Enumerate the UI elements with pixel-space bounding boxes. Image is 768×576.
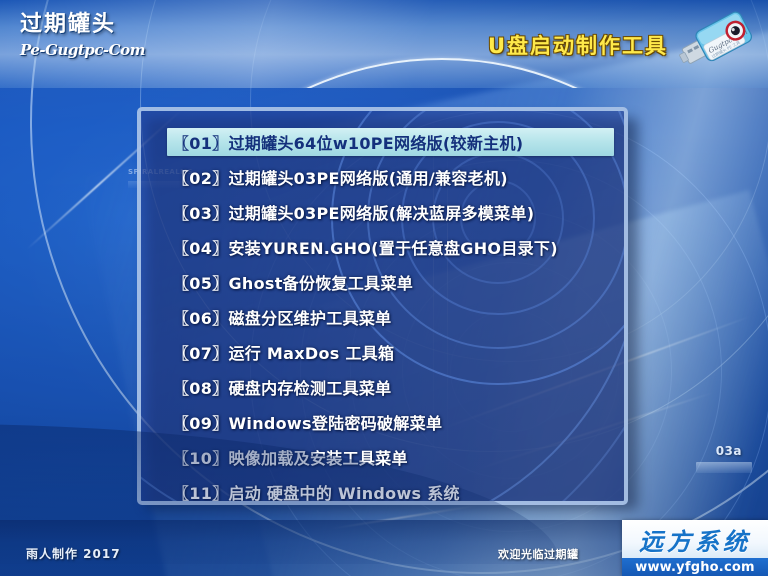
boot-menu-item-09[interactable]: 〖09〗Windows登陆密码破解菜单: [141, 408, 624, 436]
credit-text: 雨人制作 2017: [26, 545, 121, 562]
boot-menu-item-06[interactable]: 〖06〗磁盘分区维护工具菜单: [141, 303, 624, 331]
page-title: U盘启动制作工具: [488, 30, 668, 60]
site-logo: 远方系统 www.yfgho.com: [622, 520, 768, 576]
brand-subtitle: Pe-Gugtpc-Com: [20, 43, 190, 58]
boot-menu-item-04[interactable]: 〖04〗安装YUREN.GHO(置于任意盘GHO目录下): [141, 233, 624, 261]
site-logo-top: 远方系统: [622, 520, 768, 558]
site-logo-bottom: www.yfgho.com: [622, 558, 768, 576]
page-marker-bar: [696, 462, 752, 473]
usb-drive-icon: Gugtpc.com 过期罐头 PE 工具: [674, 8, 760, 82]
boot-menu-item-05[interactable]: 〖05〗Ghost备份恢复工具菜单: [141, 268, 624, 296]
boot-menu-item-03[interactable]: 〖03〗过期罐头03PE网络版(解决蓝屏多模菜单): [141, 198, 624, 226]
welcome-text: 欢迎光临过期罐: [498, 546, 579, 562]
brand-title: 过期罐头: [20, 14, 190, 36]
brand-logo: 过期罐头 Pe-Gugtpc-Com: [20, 14, 190, 74]
boot-menu-item-01[interactable]: 〖01〗过期罐头64位w10PE网络版(较新主机): [167, 128, 614, 156]
boot-menu-item-02[interactable]: 〖02〗过期罐头03PE网络版(通用/兼容老机): [141, 163, 624, 191]
site-logo-url: www.yfgho.com: [635, 560, 754, 575]
page-marker: 03a: [716, 444, 742, 458]
boot-menu-screen: 过期罐头 Pe-Gugtpc-Com U盘启动制作工具 Gugtpc.com 过…: [0, 0, 768, 576]
header-banner: 过期罐头 Pe-Gugtpc-Com U盘启动制作工具 Gugtpc.com 过…: [0, 0, 768, 88]
boot-menu-item-07[interactable]: 〖07〗运行 MaxDos 工具箱: [141, 338, 624, 366]
boot-menu-item-08[interactable]: 〖08〗硬盘内存检测工具菜单: [141, 373, 624, 401]
site-logo-name: 远方系统: [639, 522, 751, 557]
